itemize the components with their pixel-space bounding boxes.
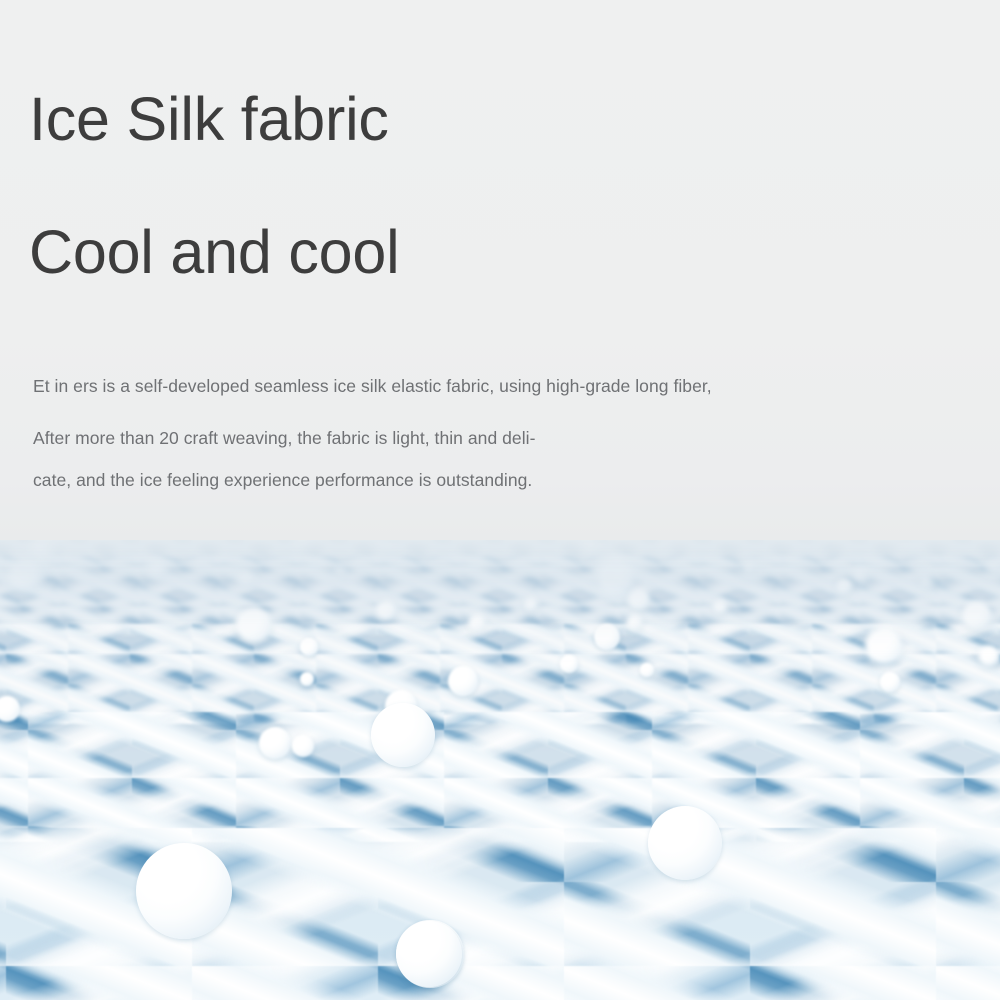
fabric-sphere: [292, 735, 314, 757]
fabric-sphere: [300, 638, 318, 656]
fabric-sphere: [468, 614, 486, 632]
fabric-sphere: [448, 666, 478, 696]
fabric-sphere: [978, 645, 1000, 667]
ice-silk-fabric-banner: Ice Silk fabric Cool and cool Et in ers …: [0, 0, 1000, 1000]
weave-strand-lattice: [0, 712, 1000, 842]
fabric-sphere: [259, 727, 291, 759]
fabric-sphere: [6, 556, 42, 592]
fabric-sphere: [962, 600, 992, 630]
description-line-1: Et in ers is a self-developed seamless i…: [33, 378, 712, 396]
fabric-sphere: [396, 921, 462, 987]
fabric-sphere: [334, 564, 348, 578]
description-line-3: cate, and the ice feeling experience per…: [33, 472, 532, 490]
fabric-sphere: [626, 614, 643, 631]
fabric-sphere: [371, 703, 435, 767]
fabric-sphere: [648, 806, 722, 880]
fabric-sphere: [236, 607, 272, 643]
fabric-sphere: [628, 588, 650, 610]
fabric-sphere: [376, 600, 396, 620]
fabric-sphere: [524, 597, 538, 611]
weave-row-near: [0, 712, 1000, 842]
intro-text-panel: Ice Silk fabric Cool and cool Et in ers …: [0, 0, 1000, 540]
fabric-sphere: [741, 556, 756, 578]
fabric-sphere: [919, 572, 933, 590]
fabric-sphere: [148, 560, 166, 578]
page-title-secondary: Cool and cool: [29, 222, 399, 283]
weave-row-mid-near: [0, 624, 1000, 724]
fabric-sphere: [852, 566, 869, 583]
fabric-sphere: [880, 672, 900, 692]
page-title-primary: Ice Silk fabric: [29, 89, 389, 150]
fabric-sphere: [238, 570, 254, 586]
fabric-sphere: [660, 541, 675, 556]
fabric-sphere: [640, 663, 654, 677]
description-line-2: After more than 20 craft weaving, the fa…: [33, 430, 535, 448]
fabric-sphere: [713, 600, 727, 614]
fabric-sphere: [300, 672, 314, 686]
weave-strand-lattice: [0, 624, 1000, 724]
fabric-sphere: [836, 578, 852, 594]
fabric-sphere: [986, 560, 1000, 574]
fabric-sphere: [136, 843, 232, 939]
fabric-sphere: [865, 627, 903, 665]
fabric-sphere: [594, 624, 620, 650]
fabric-sphere: [560, 655, 578, 673]
